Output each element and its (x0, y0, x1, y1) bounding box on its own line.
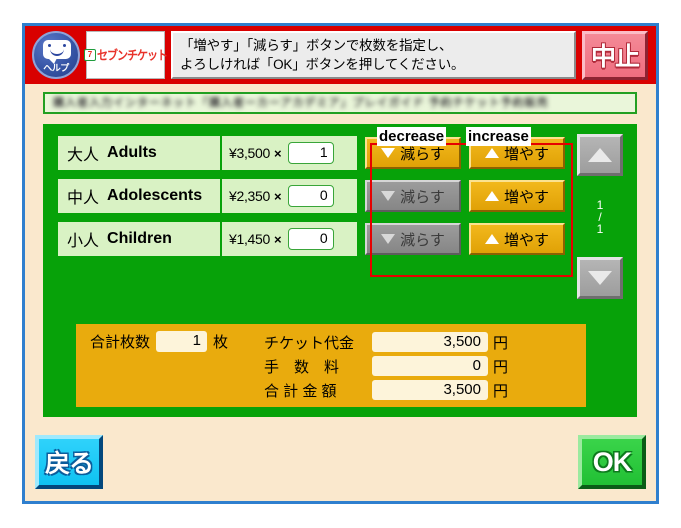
summary-panel: 合計枚数 1 枚 チケット代金 3,500 円 手 数 料 0 (76, 324, 586, 407)
triangle-down-icon (381, 191, 395, 201)
triangle-down-icon (381, 234, 395, 244)
ticket-selection-panel: 大人 Adults ¥3,500 × 1 減らす (43, 124, 637, 417)
amount-value: 0 (372, 356, 488, 376)
quantity-input[interactable]: 0 (288, 185, 334, 207)
cancel-button-label: 中止 (591, 37, 639, 73)
ticket-type-jp: 中人 (67, 184, 99, 208)
ticket-type-en: Adolescents (107, 187, 202, 205)
ticket-price-cell: ¥3,500 × 1 (222, 136, 357, 170)
amount-label: 合 計 金 額 (264, 380, 372, 401)
ticket-price: ¥2,350 (229, 188, 270, 204)
seven-mark-icon: 7 (84, 49, 96, 61)
triangle-up-icon (485, 191, 499, 201)
table-row: 中人 Adolescents ¥2,350 × 0 減らす (58, 177, 578, 215)
amount-unit: 円 (493, 356, 508, 377)
scroll-up-button[interactable] (577, 134, 623, 176)
instruction-panel: 「増やす」「減らす」ボタンで枚数を指定し、 よろしければ「OK」ボタンを押してく… (171, 31, 576, 79)
instruction-line-2: よろしければ「OK」ボタンを押してください。 (180, 55, 574, 74)
increase-button[interactable]: 増やす (469, 180, 565, 212)
page-current: 1 (597, 199, 604, 211)
page-total: 1 (597, 223, 604, 235)
decrease-button[interactable]: 減らす (365, 180, 461, 212)
back-button-label: 戻る (45, 444, 93, 480)
amount-value: 3,500 (372, 332, 488, 352)
instruction-line-1: 「増やす」「減らす」ボタンで枚数を指定し、 (180, 36, 574, 55)
increase-button-label: 増やす (504, 186, 549, 207)
ticket-type-cell: 大人 Adults (58, 136, 220, 170)
ticket-price: ¥1,450 (229, 231, 270, 247)
triangle-down-icon (381, 148, 395, 158)
annotation-decrease-label: decrease (377, 127, 446, 146)
decrease-button-label: 減らす (400, 186, 445, 207)
ticket-type-en: Adults (107, 144, 157, 162)
total-count-value: 1 (156, 331, 207, 352)
ok-button[interactable]: OK (578, 435, 646, 489)
back-button[interactable]: 戻る (35, 435, 103, 489)
multiply-sign: × (274, 189, 282, 204)
multiply-sign: × (274, 232, 282, 247)
total-count-unit: 枚 (213, 331, 228, 352)
amount-unit: 円 (493, 380, 508, 401)
page-indicator: 1 / 1 (597, 199, 604, 235)
multiply-sign: × (274, 146, 282, 161)
header-bar: ヘルプ 7 セブンチケット 「増やす」「減らす」ボタンで枚数を指定し、 よろしけ… (25, 26, 656, 84)
triangle-up-icon (485, 148, 499, 158)
triangle-up-icon (588, 148, 612, 162)
page-divider: / (597, 211, 604, 223)
ticket-price: ¥3,500 (229, 145, 270, 161)
quantity-input[interactable]: 0 (288, 228, 334, 250)
cancel-button[interactable]: 中止 (582, 31, 648, 80)
help-button-label: ヘルプ (34, 61, 78, 74)
ticket-type-cell: 小人 Children (58, 222, 220, 256)
kiosk-frame: ヘルプ 7 セブンチケット 「増やす」「減らす」ボタンで枚数を指定し、 よろしけ… (22, 23, 659, 504)
amount-label: 手 数 料 (264, 356, 372, 377)
ticket-type-en: Children (107, 230, 172, 248)
triangle-up-icon (485, 234, 499, 244)
kiosk-screenshot: ヘルプ 7 セブンチケット 「増やす」「減らす」ボタンで枚数を指定し、 よろしけ… (0, 0, 681, 528)
scroll-controls: 1 / 1 (575, 134, 625, 299)
ok-button-label: OK (593, 447, 632, 478)
brand-logo: 7 セブンチケット (86, 31, 165, 79)
content-area: 購入者入力インターネット「購入者ーカーアカデミア」プレイガイド 予約チケット予約… (25, 84, 656, 501)
ticket-type-jp: 小人 (67, 227, 99, 251)
help-button[interactable]: ヘルプ (32, 31, 80, 79)
help-face-eyes-icon (48, 44, 66, 47)
ticket-rows: 大人 Adults ¥3,500 × 1 減らす (58, 134, 578, 263)
ticket-type-jp: 大人 (67, 141, 99, 165)
event-title-text: 購入者入力インターネット「購入者ーカーアカデミア」プレイガイド 予約チケット予約… (45, 94, 635, 112)
ticket-price-cell: ¥1,450 × 0 (222, 222, 357, 256)
annotation-increase-label: increase (466, 127, 531, 146)
brand-logo-text: セブンチケット (97, 46, 167, 64)
decrease-button-label: 減らす (400, 229, 445, 250)
table-row: 小人 Children ¥1,450 × 0 減らす (58, 220, 578, 258)
ticket-price-cell: ¥2,350 × 0 (222, 179, 357, 213)
ticket-type-cell: 中人 Adolescents (58, 179, 220, 213)
event-title-bar: 購入者入力インターネット「購入者ーカーアカデミア」プレイガイド 予約チケット予約… (43, 92, 637, 114)
total-count-label: 合計枚数 (90, 331, 150, 352)
increase-button-label: 増やす (504, 229, 549, 250)
amount-row: チケット代金 3,500 円 (264, 330, 508, 354)
amount-rows: チケット代金 3,500 円 手 数 料 0 円 合 計 金 額 3,500 (264, 330, 508, 402)
amount-unit: 円 (493, 332, 508, 353)
triangle-down-icon (588, 271, 612, 285)
amount-value: 3,500 (372, 380, 488, 400)
scroll-down-button[interactable] (577, 257, 623, 299)
decrease-button[interactable]: 減らす (365, 223, 461, 255)
increase-button[interactable]: 増やす (469, 223, 565, 255)
amount-label: チケット代金 (264, 332, 372, 353)
amount-row: 合 計 金 額 3,500 円 (264, 378, 508, 402)
amount-row: 手 数 料 0 円 (264, 354, 508, 378)
quantity-input[interactable]: 1 (288, 142, 334, 164)
